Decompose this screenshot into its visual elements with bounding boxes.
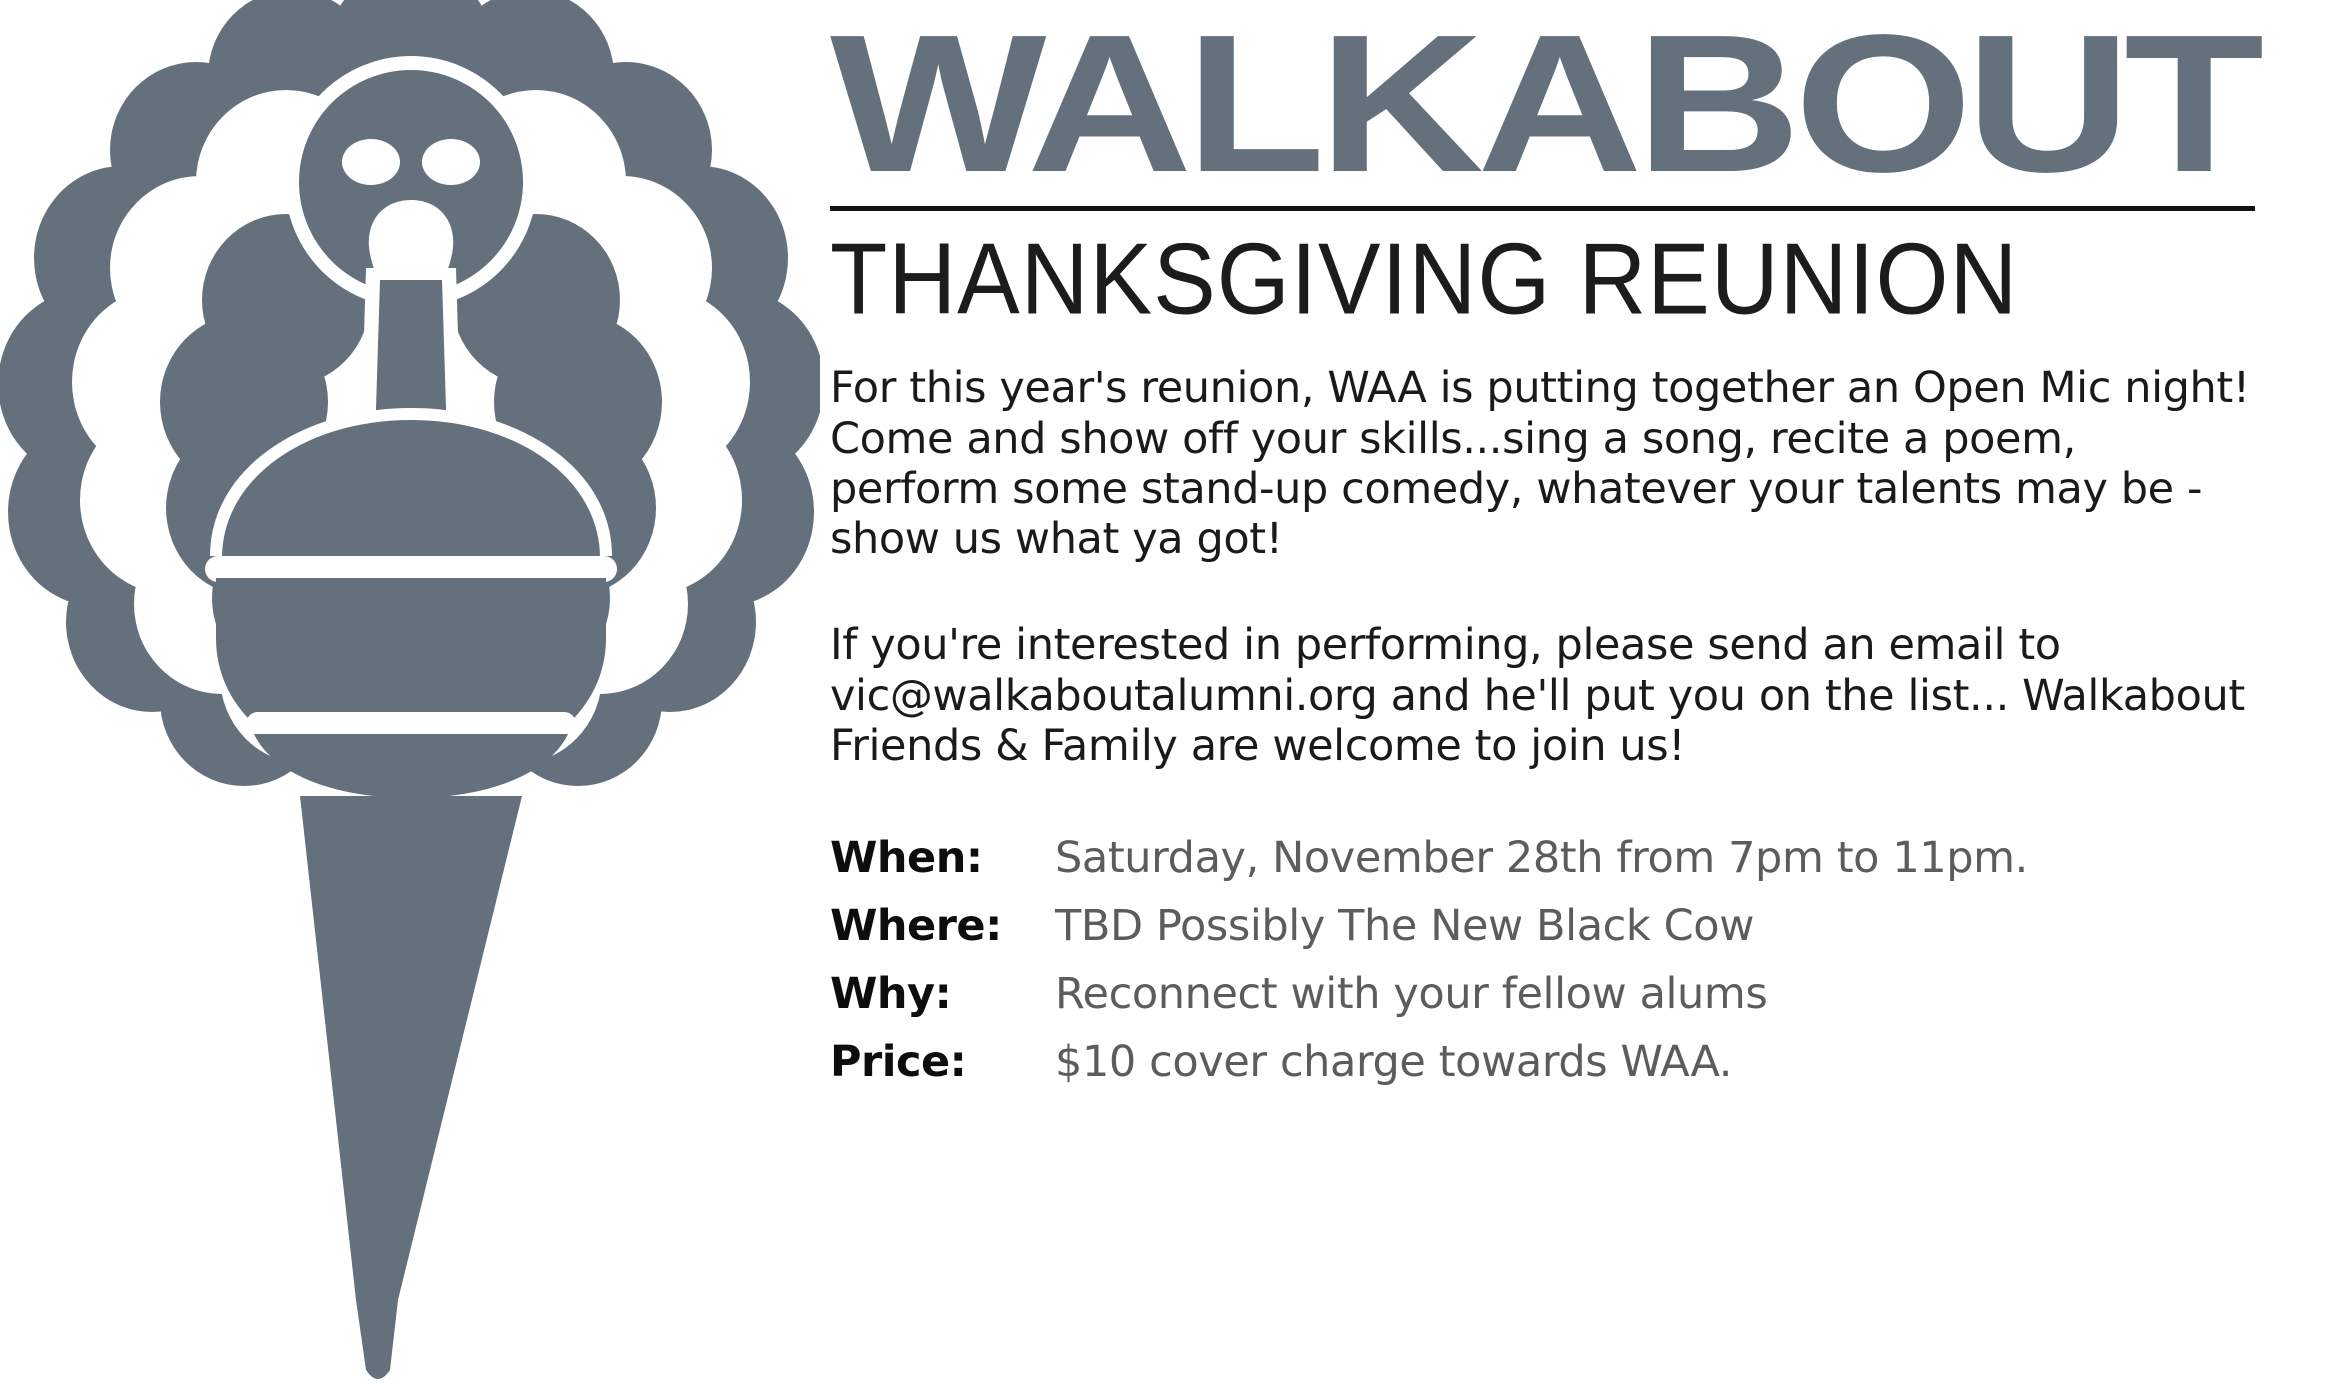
detail-value-where: TBD Possibly The New Black Cow <box>1055 901 2255 951</box>
brand-wordmark: WALKABOUT <box>830 6 2330 196</box>
mic-band-lower <box>254 716 568 731</box>
mic-collar <box>254 734 568 798</box>
turkey-microphone-logo <box>0 0 820 1390</box>
signup-paragraph: If you're interested in performing, plea… <box>830 620 2255 771</box>
mic-handle <box>300 796 522 1300</box>
mic-body-mid <box>216 578 606 640</box>
content-column: WALKABOUT THANKSGIVING REUNION For this … <box>820 0 2330 1390</box>
logo-panel <box>0 0 820 1390</box>
eye-left <box>342 139 400 185</box>
detail-value-why: Reconnect with your fellow alums <box>1055 969 2255 1019</box>
intro-paragraph: For this year's reunion, WAA is putting … <box>830 363 2255 564</box>
mic-handle-tip <box>356 1300 398 1379</box>
detail-value-when: Saturday, November 28th from 7pm to 11pm… <box>1055 833 2255 883</box>
poster-root: WALKABOUT THANKSGIVING REUNION For this … <box>0 0 2330 1390</box>
detail-value-price: $10 cover charge towards WAA. <box>1055 1037 2255 1087</box>
event-subtitle: THANKSGIVING REUNION <box>830 229 2284 330</box>
detail-label-when: When: <box>830 833 1055 883</box>
mic-band-upper <box>216 560 606 576</box>
event-details-list: When: Saturday, November 28th from 7pm t… <box>830 833 2255 1087</box>
detail-label-where: Where: <box>830 901 1055 951</box>
detail-label-price: Price: <box>830 1037 1055 1087</box>
eye-right <box>422 139 480 185</box>
detail-label-why: Why: <box>830 969 1055 1019</box>
